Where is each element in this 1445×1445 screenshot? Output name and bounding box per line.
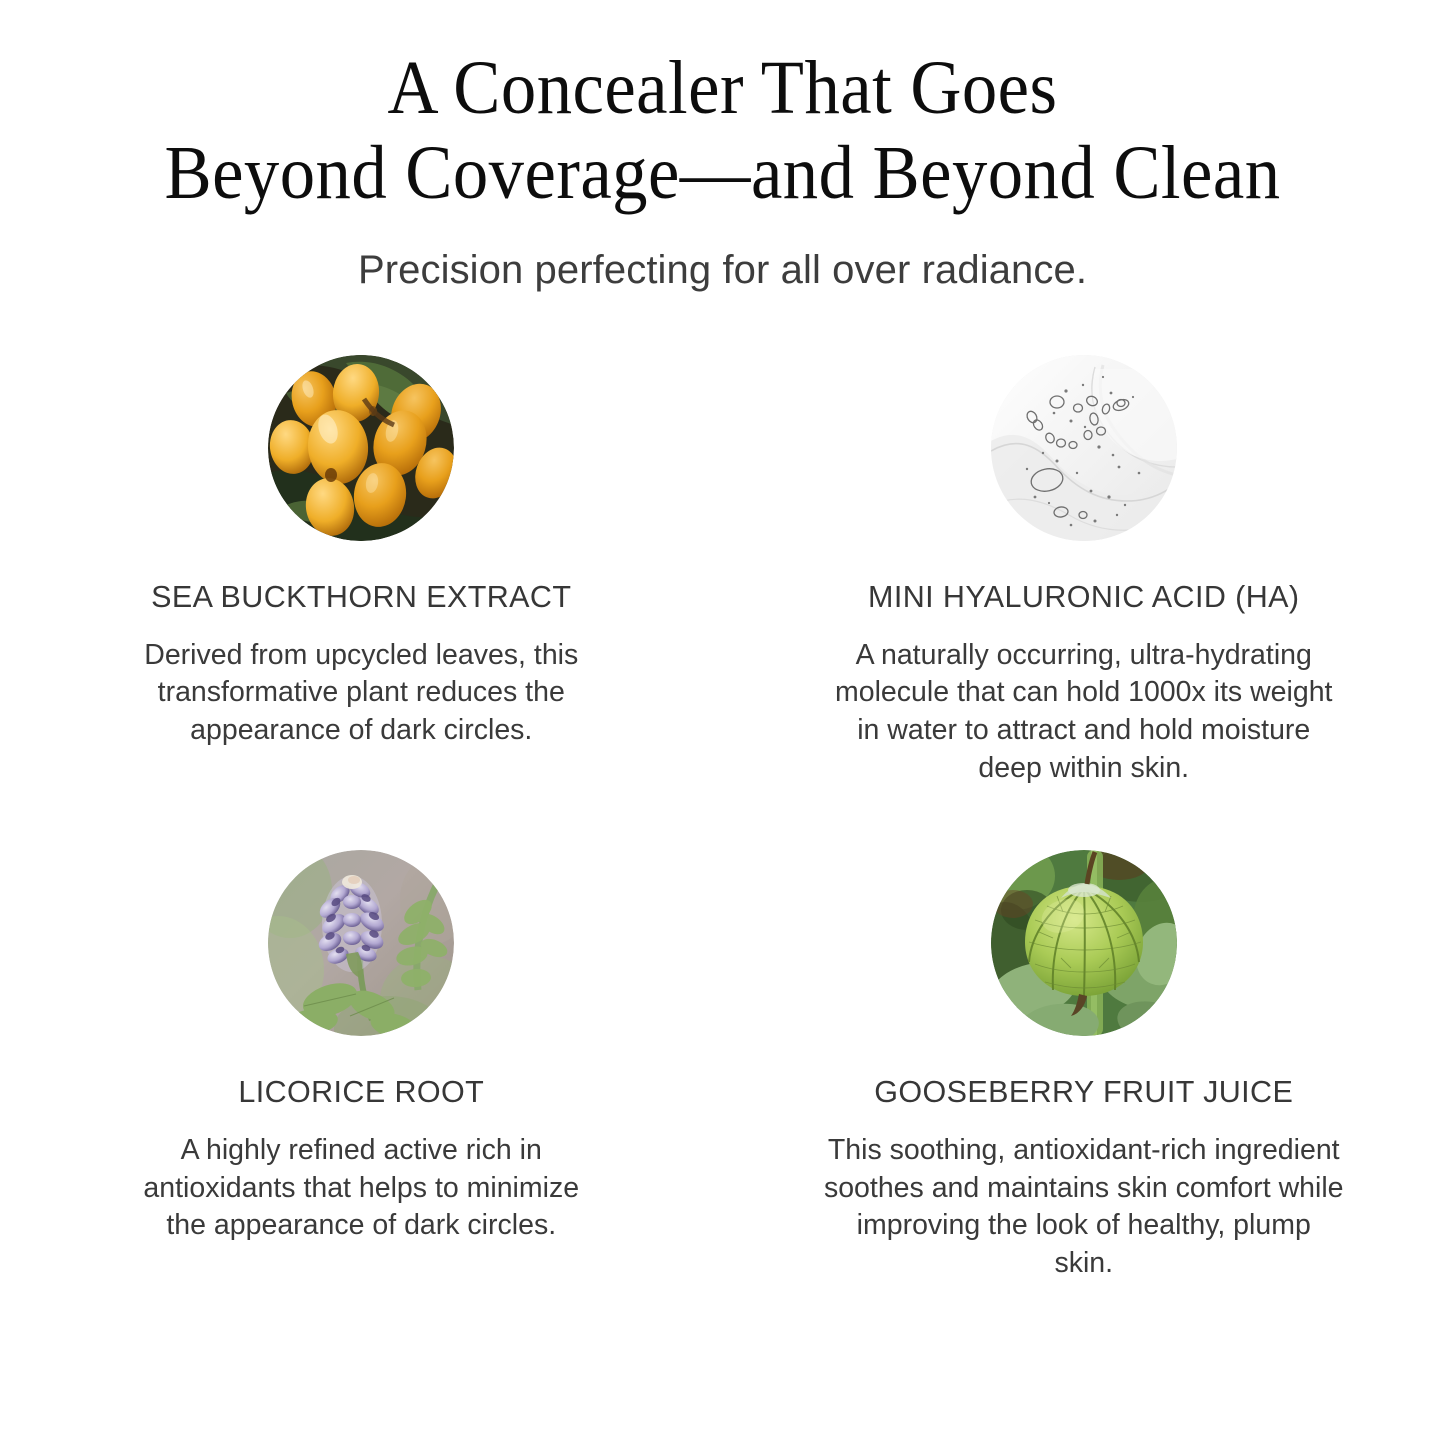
ingredient-card-gooseberry: GOOSEBERRY FRUIT JUICE This soothing, an…: [723, 850, 1445, 1283]
page-subtitle: Precision perfecting for all over radian…: [0, 246, 1445, 294]
ingredient-title: MINI HYALURONIC ACID (HA): [868, 581, 1299, 615]
ingredient-benefits-page: A Concealer That Goes Beyond Coverage—an…: [0, 0, 1445, 1445]
ingredient-card-sea-buckthorn: SEA BUCKTHORN EXTRACT Derived from upcyc…: [0, 355, 723, 788]
ingredient-title: SEA BUCKTHORN EXTRACT: [151, 581, 571, 615]
page-title-line-1: A Concealer That Goes: [51, 46, 1395, 131]
licorice-root-flower-photo: [268, 850, 454, 1036]
gooseberry-fruit-photo: [991, 850, 1177, 1036]
sea-buckthorn-berries-photo: [268, 355, 454, 541]
page-title-line-2: Beyond Coverage—and Beyond Clean: [51, 131, 1395, 216]
ingredient-grid: SEA BUCKTHORN EXTRACT Derived from upcyc…: [0, 355, 1445, 1283]
ingredient-card-hyaluronic-acid: MINI HYALURONIC ACID (HA) A naturally oc…: [723, 355, 1445, 788]
ingredient-description: Derived from upcycled leaves, this trans…: [126, 637, 596, 751]
ingredient-description: A highly refined active rich in antioxid…: [125, 1132, 597, 1246]
ingredient-description: This soothing, antioxidant-rich ingredie…: [808, 1132, 1360, 1284]
page-title: A Concealer That Goes Beyond Coverage—an…: [51, 46, 1395, 216]
ingredient-title: LICORICE ROOT: [238, 1076, 484, 1110]
hyaluronic-acid-gel-photo: [991, 355, 1177, 541]
page-header: A Concealer That Goes Beyond Coverage—an…: [0, 46, 1445, 294]
ingredient-title: GOOSEBERRY FRUIT JUICE: [874, 1076, 1293, 1110]
ingredient-description: A naturally occurring, ultra-hydrating m…: [819, 637, 1349, 789]
ingredient-card-licorice-root: LICORICE ROOT A highly refined active ri…: [0, 850, 723, 1283]
